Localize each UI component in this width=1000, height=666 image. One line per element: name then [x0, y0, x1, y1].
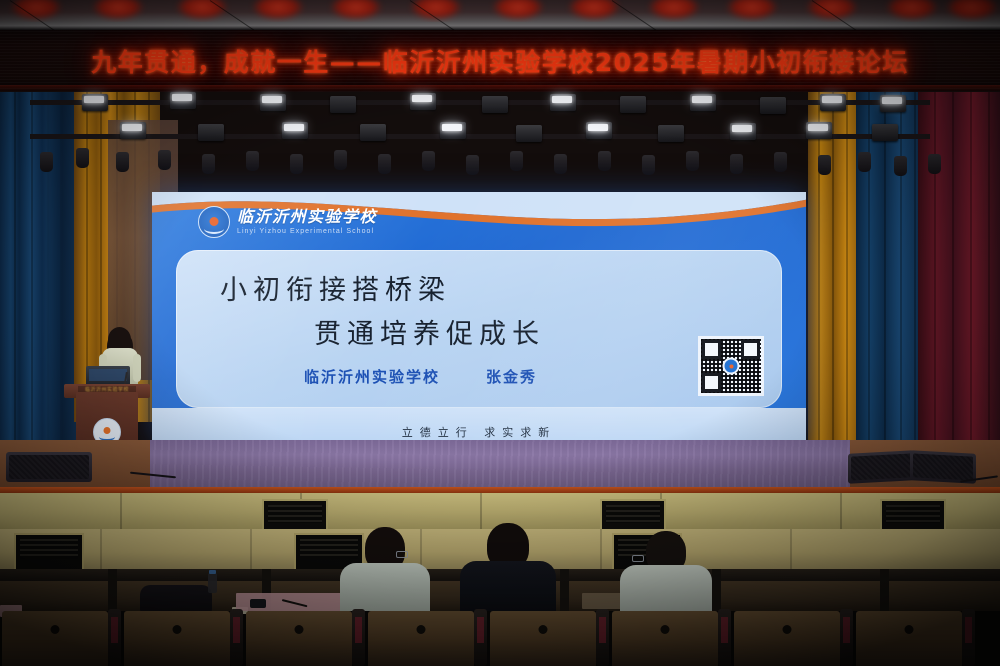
- slide-title-line-1: 小初衔接搭桥梁: [220, 268, 451, 307]
- stage-front-vent-2: [600, 499, 666, 533]
- attendee-right-glasses-icon: [632, 555, 644, 562]
- curtain-red-right: [918, 92, 1000, 462]
- attendee-right: [620, 531, 712, 611]
- logo-name-en: Linyi Yizhou Experimental School: [237, 228, 377, 235]
- slide-school-logo: 临沂沂州实验学校 Linyi Yizhou Experimental Schoo…: [198, 206, 377, 238]
- seat-arm: [962, 609, 975, 666]
- seat[interactable]: [246, 611, 352, 666]
- slide-motto: 立德立行 求实求新: [152, 424, 806, 440]
- byline-presenter: 张金秀: [486, 366, 537, 387]
- attendee-left: [340, 527, 430, 611]
- seat[interactable]: [856, 611, 962, 666]
- led-underglow: [0, 85, 1000, 92]
- seat[interactable]: [2, 611, 108, 666]
- seat-arm: [596, 609, 609, 666]
- seat-arm: [474, 609, 487, 666]
- qr-code-icon: [698, 336, 764, 396]
- ceiling-band: [0, 0, 1000, 30]
- byline-organization: 临沂沂州实验学校: [304, 366, 440, 387]
- stage-light-truss: [30, 96, 930, 188]
- seat[interactable]: [490, 611, 596, 666]
- seat-arm: [840, 609, 853, 666]
- seat[interactable]: [368, 611, 474, 666]
- slide-content-panel: 小初衔接搭桥梁 贯通培养促成长 临沂沂州实验学校 张金秀: [176, 250, 782, 408]
- led-banner-text: 九年贯通，成就一生——临沂沂州实验学校2025年暑期小初衔接论坛: [91, 43, 909, 79]
- attendee-left-glasses-icon: [396, 551, 408, 558]
- school-emblem-icon: [198, 206, 230, 238]
- slide-byline: 临沂沂州实验学校 张金秀: [304, 366, 537, 387]
- floor-monitor-right-a: [848, 450, 914, 483]
- auditorium-scene: 九年贯通，成就一生——临沂沂州实验学校2025年暑期小初衔接论坛: [0, 0, 1000, 666]
- seat[interactable]: [124, 611, 230, 666]
- attendee-center: [460, 523, 556, 611]
- slide-footer-band: 立德立行 求实求新: [152, 408, 806, 442]
- stage-front-vent-1: [262, 499, 328, 533]
- projection-screen: 临沂沂州实验学校 Linyi Yizhou Experimental Schoo…: [152, 192, 806, 442]
- auditorium-foreground: [0, 529, 1000, 666]
- stage-front-vent-3: [880, 499, 946, 533]
- ceiling-led-reflection: [0, 0, 1000, 22]
- seat-arm: [718, 609, 731, 666]
- seat-arm: [352, 609, 365, 666]
- seat-arm: [230, 609, 243, 666]
- logo-name-cn: 临沂沂州实验学校: [237, 209, 377, 225]
- desk-water-bottle: [208, 573, 217, 593]
- led-banner: 九年贯通，成就一生——临沂沂州实验学校2025年暑期小初衔接论坛: [0, 30, 1000, 92]
- floor-monitor-left: [6, 452, 92, 482]
- seat[interactable]: [734, 611, 840, 666]
- seat-arm: [108, 609, 121, 666]
- seat[interactable]: [612, 611, 718, 666]
- slide-title-line-2: 贯通培养促成长: [314, 312, 545, 351]
- auditorium-vent-3: [14, 533, 84, 571]
- presentation-slide: 临沂沂州实验学校 Linyi Yizhou Experimental Schoo…: [152, 192, 806, 442]
- seat-row-front: [0, 611, 1000, 666]
- desk-phone: [250, 599, 266, 608]
